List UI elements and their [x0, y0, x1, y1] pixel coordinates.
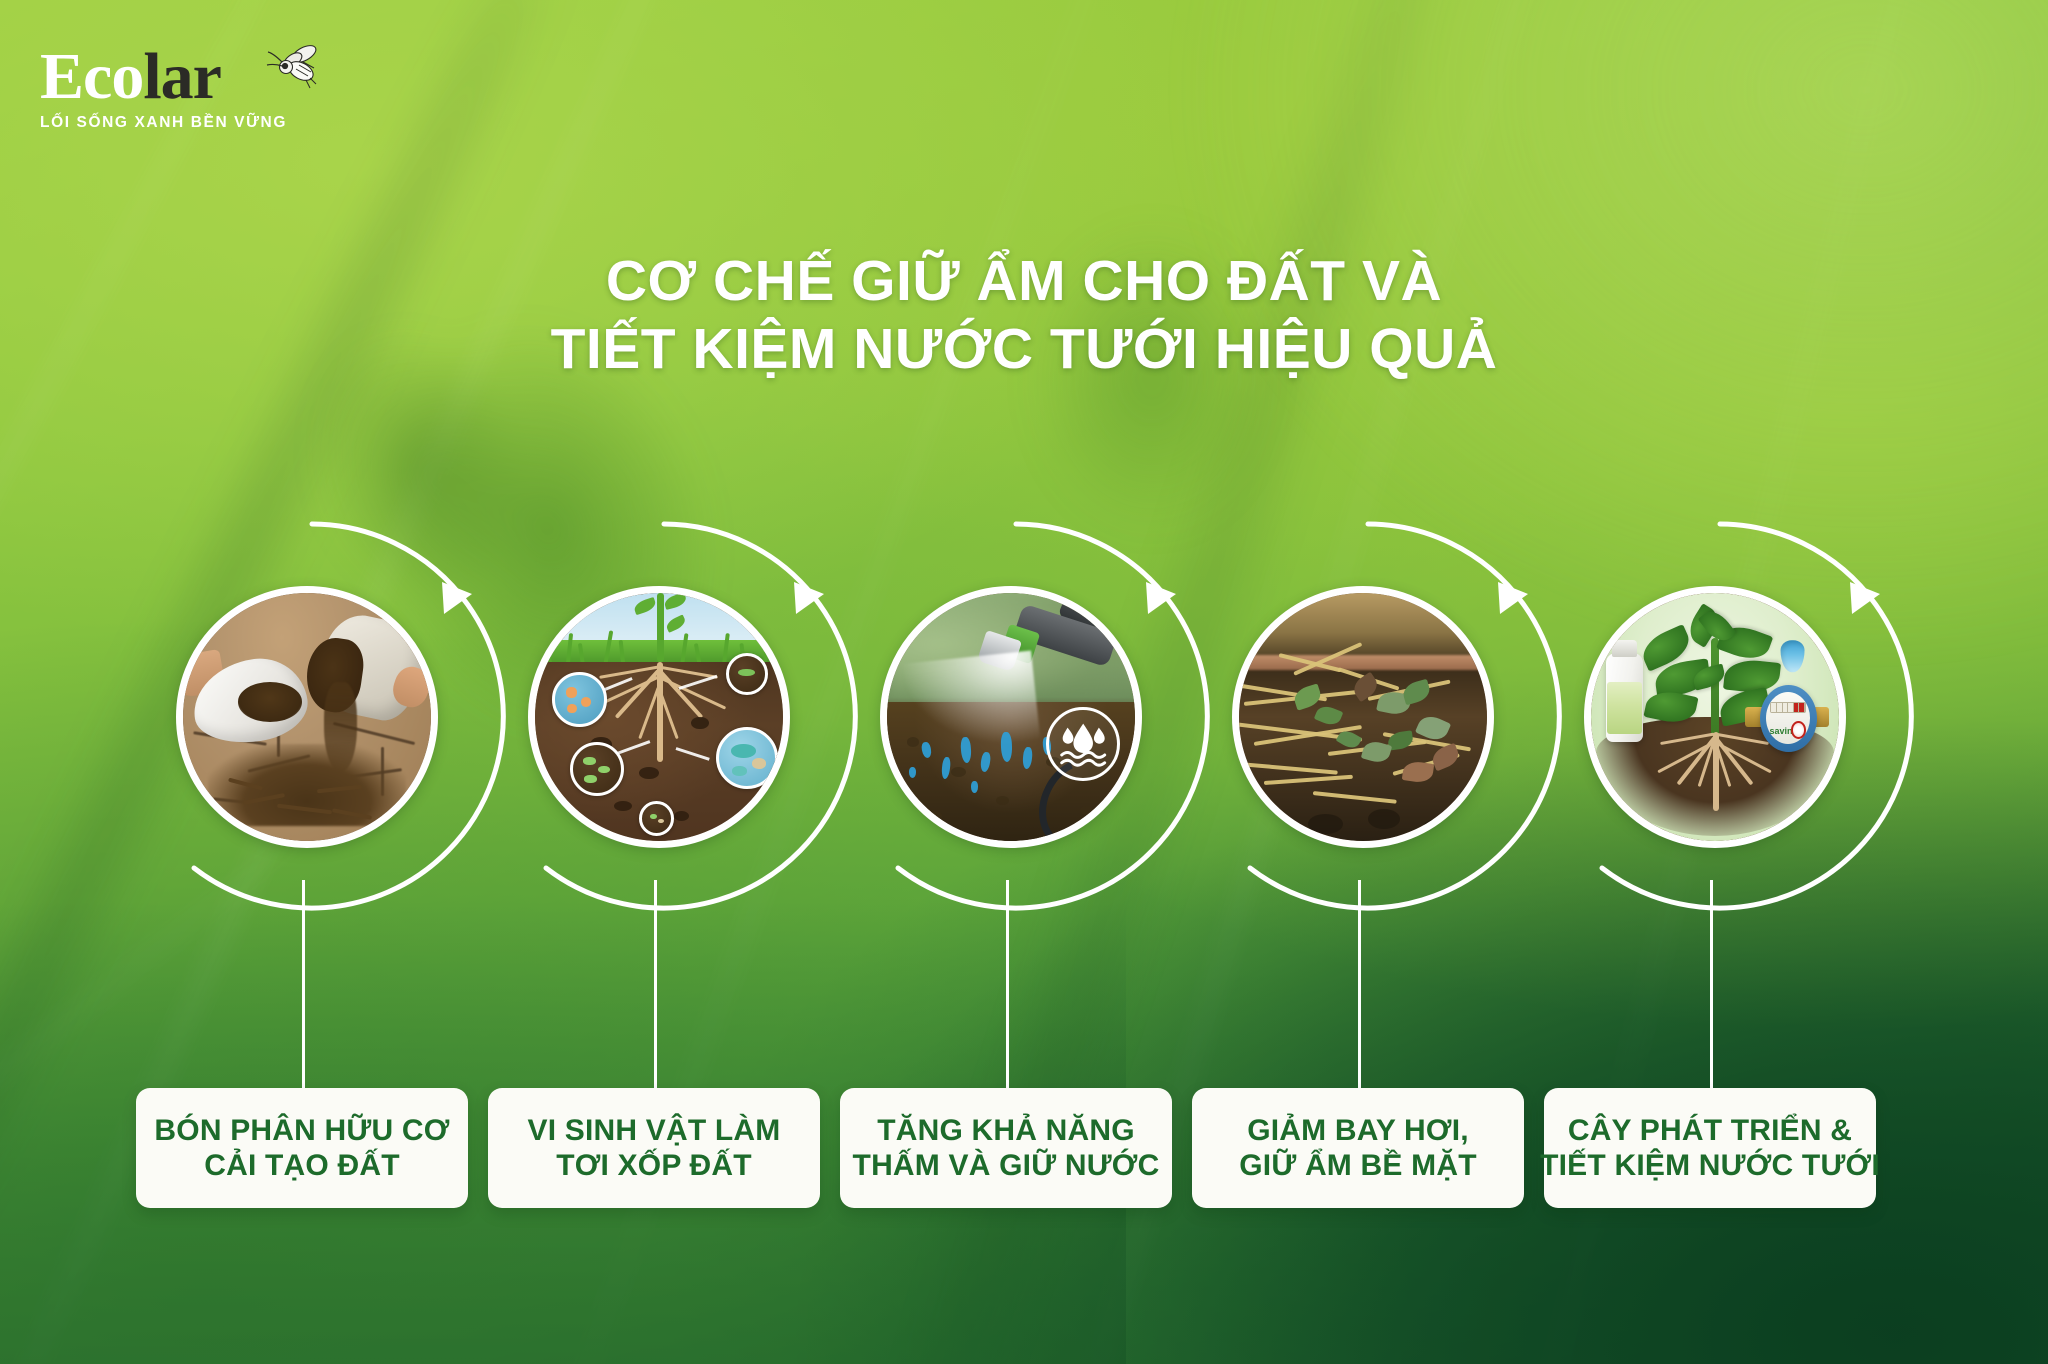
step-label-4[interactable]: GIẢM BAY HƠI, GIỮ ẨM BỀ MẶT [1192, 1088, 1524, 1208]
soil-microbes-roots-icon [535, 593, 783, 841]
step-photo-1[interactable] [176, 586, 438, 848]
hose-watering-icon [887, 593, 1135, 841]
step-label-1-line2: CẢI TẠO ĐẤT [204, 1148, 400, 1183]
water-drop-badge-icon [1046, 707, 1120, 781]
process-step-5[interactable]: saving [1536, 540, 1888, 892]
step-label-4-line1: GIẢM BAY HƠI, [1247, 1113, 1469, 1148]
step-label-4-line2: GIỮ ẨM BỀ MẶT [1239, 1148, 1476, 1183]
process-step-4[interactable] [1184, 540, 1536, 892]
process-step-3[interactable] [832, 540, 1184, 892]
step-connector-3 [1006, 880, 1009, 1092]
step-photo-3[interactable] [880, 586, 1142, 848]
step-photo-4[interactable] [1232, 586, 1494, 848]
step-connector-1 [302, 880, 305, 1092]
hands-compost-icon [183, 593, 431, 841]
step-label-5[interactable]: CÂY PHÁT TRIỂN & TIẾT KIỆM NƯỚC TƯỚI [1544, 1088, 1876, 1208]
water-meter-icon: saving [1760, 685, 1817, 752]
step-connector-2 [654, 880, 657, 1092]
straw-mulch-icon [1239, 593, 1487, 841]
step-label-1[interactable]: BÓN PHÂN HỮU CƠ CẢI TẠO ĐẤT [136, 1088, 468, 1208]
process-step-2[interactable] [480, 540, 832, 892]
step-connector-5 [1710, 880, 1713, 1092]
step-label-5-line1: CÂY PHÁT TRIỂN & [1568, 1113, 1852, 1148]
process-flow: BÓN PHÂN HỮU CƠ CẢI TẠO ĐẤT [0, 0, 2048, 1364]
process-step-1[interactable] [128, 540, 480, 892]
step-label-2-line2: TƠI XỐP ĐẤT [556, 1148, 752, 1183]
step-label-2[interactable]: VI SINH VẬT LÀM TƠI XỐP ĐẤT [488, 1088, 820, 1208]
step-connector-4 [1358, 880, 1361, 1092]
step-label-3[interactable]: TĂNG KHẢ NĂNG THẤM VÀ GIỮ NƯỚC [840, 1088, 1172, 1208]
step-photo-2[interactable] [528, 586, 790, 848]
step-label-1-line1: BÓN PHÂN HỮU CƠ [154, 1113, 449, 1148]
step-label-5-line2: TIẾT KIỆM NƯỚC TƯỚI [1540, 1148, 1880, 1183]
step-label-3-line1: TĂNG KHẢ NĂNG [877, 1113, 1135, 1148]
step-label-3-line2: THẤM VÀ GIỮ NƯỚC [853, 1148, 1160, 1183]
plant-growth-water-meter-icon: saving [1591, 593, 1839, 841]
step-label-2-line1: VI SINH VẬT LÀM [527, 1113, 780, 1148]
step-photo-5[interactable]: saving [1584, 586, 1846, 848]
